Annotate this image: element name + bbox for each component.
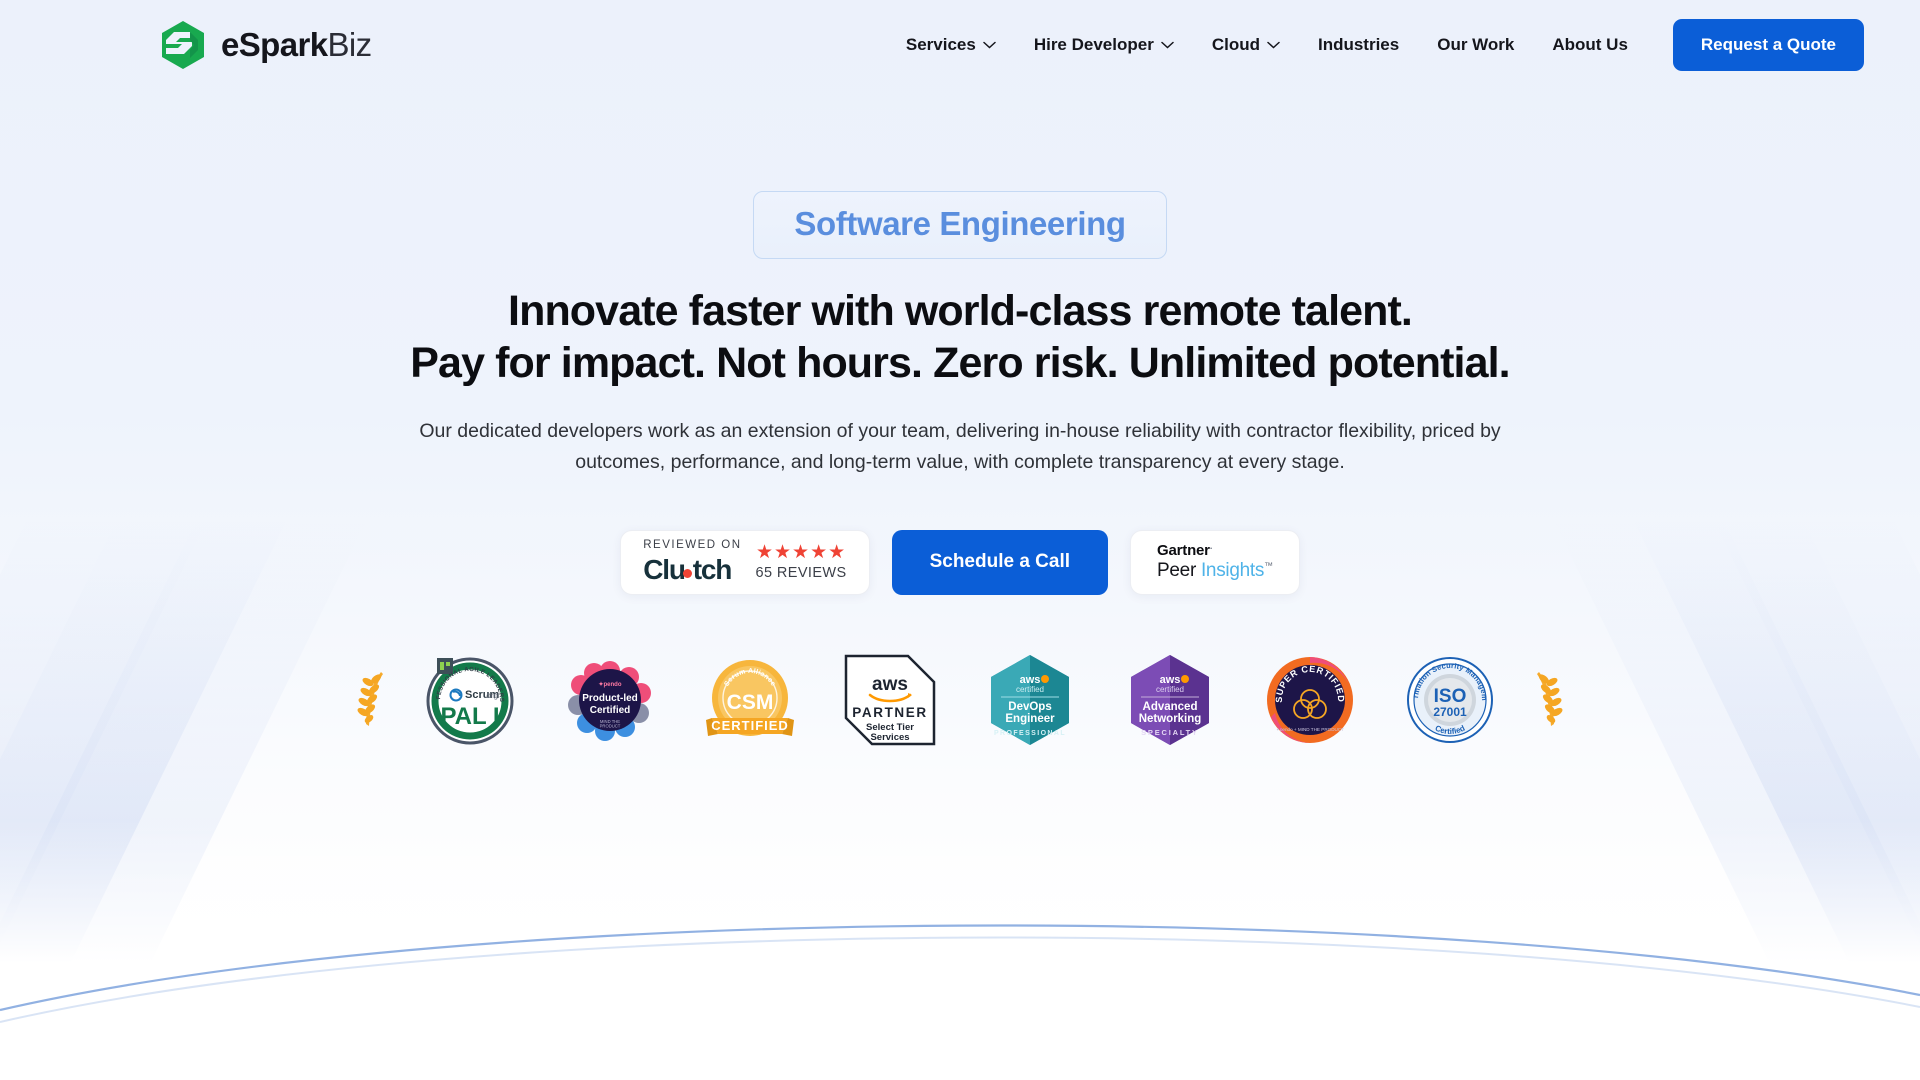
badge-aws-devops-engineer[interactable]: aws certified DevOps Engineer PROFESSION…	[960, 650, 1100, 750]
hero-eyebrow-pill: Software Engineering	[753, 191, 1166, 259]
gartner-peer-text: Peer	[1157, 560, 1201, 581]
clutch-wordmark: Clutch	[643, 554, 741, 586]
headline-line-2: Pay for impact. Not hours. Zero risk. Un…	[410, 339, 1509, 387]
gartner-line1: Gartner	[1157, 542, 1210, 559]
request-a-quote-button[interactable]: Request a Quote	[1673, 19, 1864, 71]
clutch-star-rating: ★★★★★	[756, 543, 847, 562]
svg-text:Engineer: Engineer	[1005, 713, 1055, 725]
svg-text:SPECIALTY: SPECIALTY	[1141, 728, 1199, 737]
laurel-wreath-icon	[355, 668, 389, 732]
svg-text:27001: 27001	[1433, 705, 1467, 719]
svg-text:.org: .org	[484, 691, 498, 700]
badge-iso-27001[interactable]: Information Security Management Certifie…	[1380, 650, 1520, 750]
social-proof-row: REVIEWED ON Clutch ★★★★★ 65 REVIEWS Sche…	[0, 530, 1920, 595]
aws-partner-select-tier-badge-icon: aws PARTNER Select Tier Services	[844, 654, 936, 746]
scrum-pal-i-badge-icon: PROFESSIONAL AGILE LEADERSHIP Scrum . .o…	[425, 654, 515, 746]
headline-line-1: Innovate faster with world-class remote …	[508, 287, 1412, 335]
gartner-product-label: Peer Insights™	[1157, 560, 1273, 583]
espark-hexagon-logo-icon	[160, 20, 206, 70]
logo-text-primary: eSpark	[221, 26, 327, 63]
logo-wordmark: eSparkBiz	[221, 26, 372, 64]
pendo-product-led-certified-badge-icon: ✦pendo Product-led Certified MIND THE PR…	[567, 655, 653, 745]
badge-aws-advanced-networking[interactable]: aws certified Advanced Networking SPECIA…	[1100, 650, 1240, 750]
svg-text:Services: Services	[870, 732, 909, 743]
clutch-red-dot-icon	[683, 569, 692, 578]
nav-label-services: Services	[906, 35, 976, 55]
page-title: Innovate faster with world-class remote …	[0, 285, 1920, 390]
iso-27001-certified-badge-icon: Information Security Management Certifie…	[1406, 656, 1494, 744]
nav-item-about-us[interactable]: About Us	[1533, 25, 1647, 65]
nav-item-cloud[interactable]: Cloud	[1193, 25, 1299, 65]
laurel-wreath-left	[344, 655, 400, 745]
svg-text:Certified: Certified	[590, 705, 631, 716]
clutch-review-card[interactable]: REVIEWED ON Clutch ★★★★★ 65 REVIEWS	[620, 530, 869, 595]
laurel-wreath-icon	[1531, 668, 1565, 732]
hero-section: Software Engineering Innovate faster wit…	[0, 90, 1920, 750]
aws-certified-advanced-networking-badge-icon: aws certified Advanced Networking SPECIA…	[1127, 653, 1213, 747]
nav-item-industries[interactable]: Industries	[1299, 25, 1418, 65]
svg-text:aws: aws	[872, 674, 908, 695]
gartner-registered-mark: .	[1210, 541, 1212, 551]
svg-text:Networking: Networking	[1139, 713, 1202, 725]
chevron-down-icon	[1267, 41, 1280, 49]
certification-badge-row: PROFESSIONAL AGILE LEADERSHIP Scrum . .o…	[0, 650, 1920, 750]
svg-text:Product-led: Product-led	[582, 693, 638, 704]
svg-text:PROFESSIONAL: PROFESSIONAL	[994, 730, 1066, 737]
nav-item-our-work[interactable]: Our Work	[1418, 25, 1533, 65]
svg-text:certified: certified	[1156, 685, 1184, 694]
svg-text:PRODUCT: PRODUCT	[600, 723, 621, 728]
badge-pendo-product-led[interactable]: ✦pendo Product-led Certified MIND THE PR…	[540, 650, 680, 750]
clutch-reviewed-on-label: REVIEWED ON	[643, 539, 741, 551]
svg-text:✦pendo + MIND THE PRODUCT: ✦pendo + MIND THE PRODUCT	[1276, 727, 1344, 732]
schedule-a-call-button[interactable]: Schedule a Call	[892, 530, 1108, 595]
badge-csm-certified[interactable]: Scrum Alliance CSM CERTIFIED	[680, 650, 820, 750]
nav-item-services[interactable]: Services	[887, 25, 1015, 65]
badge-aws-partner[interactable]: aws PARTNER Select Tier Services	[820, 650, 960, 750]
svg-text:CSM: CSM	[727, 691, 774, 714]
svg-text:certified: certified	[1016, 685, 1044, 694]
chevron-down-icon	[983, 41, 996, 49]
hero-subtext: Our dedicated developers work as an exte…	[408, 416, 1513, 478]
svg-text:✦pendo: ✦pendo	[598, 681, 621, 688]
chevron-down-icon	[1161, 41, 1174, 49]
nav-label-our-work: Our Work	[1437, 35, 1514, 55]
page-root: eSparkBiz Services Hire Developer Cloud …	[0, 0, 1920, 1080]
nav-label-hire-developer: Hire Developer	[1034, 35, 1154, 55]
svg-text:PARTNER: PARTNER	[852, 705, 927, 720]
main-navigation: Services Hire Developer Cloud Industries…	[887, 19, 1864, 71]
aws-certified-devops-engineer-badge-icon: aws certified DevOps Engineer PROFESSION…	[987, 653, 1073, 747]
svg-text:PAL I: PAL I	[440, 703, 499, 730]
nav-label-cloud: Cloud	[1212, 35, 1260, 55]
nav-label-about-us: About Us	[1552, 35, 1628, 55]
clutch-right-column: ★★★★★ 65 REVIEWS	[756, 543, 847, 581]
clutch-left-column: REVIEWED ON Clutch	[643, 539, 741, 586]
svg-text:CERTIFIED: CERTIFIED	[711, 718, 789, 733]
clutch-review-count: 65 REVIEWS	[756, 565, 847, 581]
gartner-peer-insights-card[interactable]: Gartner. Peer Insights™	[1130, 530, 1300, 595]
brand-logo[interactable]: eSparkBiz	[160, 20, 372, 70]
svg-text:DevOps: DevOps	[1008, 701, 1051, 713]
svg-text:Advanced: Advanced	[1143, 701, 1198, 713]
super-certified-badge-icon: SUPER CERTIFIED ✦pendo + MIND THE PRODUC…	[1265, 655, 1355, 745]
svg-text:ISO: ISO	[1434, 686, 1467, 707]
badge-super-certified[interactable]: SUPER CERTIFIED ✦pendo + MIND THE PRODUC…	[1240, 650, 1380, 750]
site-header: eSparkBiz Services Hire Developer Cloud …	[0, 0, 1920, 90]
laurel-wreath-right	[1520, 655, 1576, 745]
logo-text-secondary: Biz	[327, 26, 371, 63]
nav-item-hire-developer[interactable]: Hire Developer	[1015, 25, 1193, 65]
badge-scrum-pal-i[interactable]: PROFESSIONAL AGILE LEADERSHIP Scrum . .o…	[400, 650, 540, 750]
gartner-trademark-mark: ™	[1264, 560, 1273, 570]
gartner-insights-text: Insights	[1201, 560, 1264, 581]
csm-certified-badge-icon: Scrum Alliance CSM CERTIFIED	[706, 656, 794, 744]
gartner-brand-label: Gartner.	[1157, 541, 1212, 559]
nav-label-industries: Industries	[1318, 35, 1399, 55]
